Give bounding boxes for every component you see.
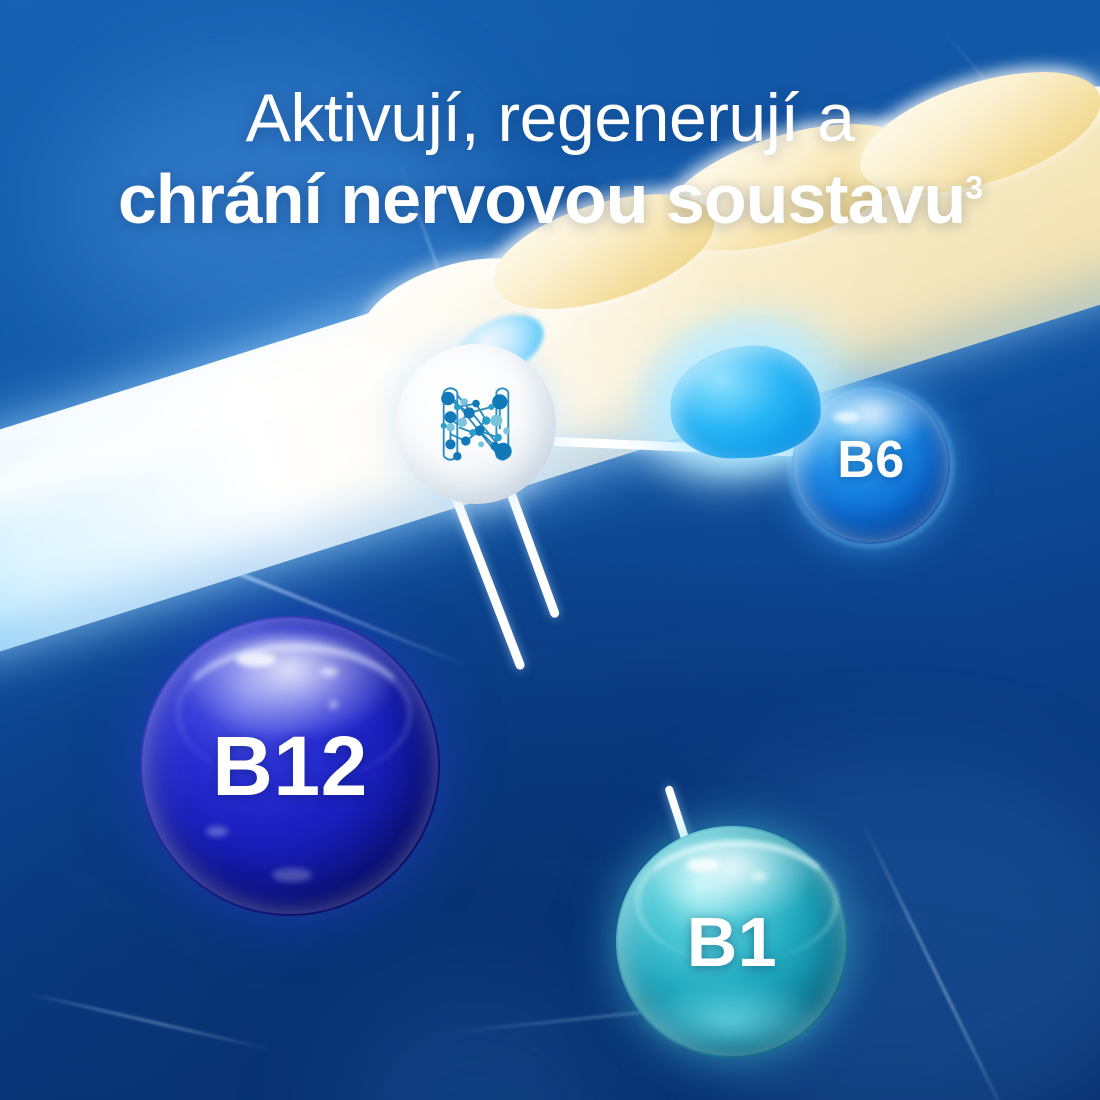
- bubble-specular-dot: [320, 667, 338, 677]
- neuron-network-n-logo-icon[interactable]: [396, 344, 556, 504]
- bubble-specular-dot: [272, 868, 312, 882]
- vitamin-bubble-b1-label: B1: [687, 907, 777, 977]
- vitamin-bubble-b12-label: B12: [212, 724, 368, 808]
- bubble-specular-dot: [329, 700, 338, 709]
- vitamin-bubble-b1[interactable]: B1: [616, 826, 848, 1058]
- bubble-under-light: [639, 981, 825, 1046]
- bubble-specular-dot: [206, 826, 228, 837]
- advertisement-canvas: B6 B1 B12: [0, 0, 1100, 1100]
